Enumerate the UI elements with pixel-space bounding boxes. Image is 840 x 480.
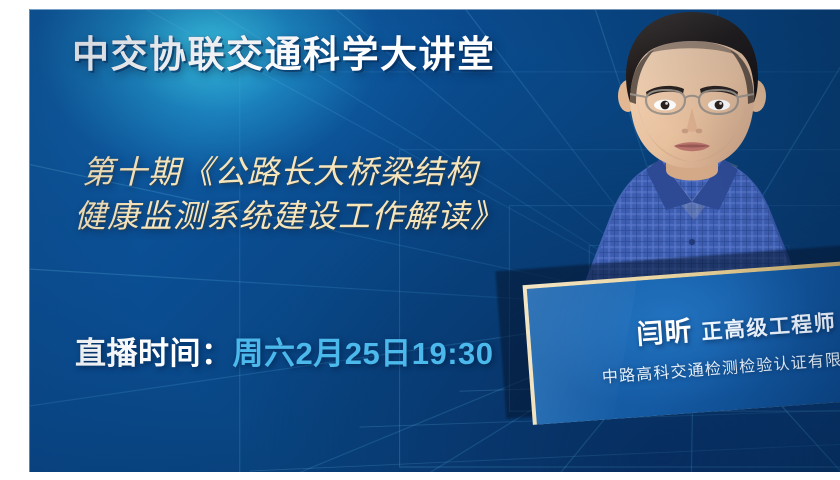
live-stream-poster: 中交协联交通科学大讲堂 第十期《公路长大桥梁结构 健康监测系统建设工作解读》 直… — [0, 0, 840, 480]
subtitle-line-1: 第十期《公路长大桥梁结构 — [82, 154, 478, 190]
speaker-name-row: 闫昕 正高级工程师 — [635, 298, 837, 352]
broadcast-time-value: 周六2月25日19:30 — [233, 336, 494, 371]
speaker-name: 闫昕 — [635, 309, 694, 352]
subtitle-line-2: 健康监测系统建设工作解读》 — [74, 194, 503, 238]
broadcast-time-line: 直播时间：周六2月25日19:30 — [75, 338, 494, 369]
speaker-info-plate: 闫昕 正高级工程师 中路高科交通检测检验认证有限公司 — [485, 236, 840, 445]
broadcast-time-label: 直播时间： — [75, 336, 233, 371]
plate-body: 闫昕 正高级工程师 中路高科交通检测检验认证有限公司 — [527, 262, 840, 425]
speaker-title: 正高级工程师 — [700, 306, 837, 346]
poster-headline: 中交协联交通科学大讲堂 — [72, 36, 496, 73]
poster-subtitle: 第十期《公路长大桥梁结构 健康监测系统建设工作解读》 — [82, 150, 503, 238]
poster-artboard: 中交协联交通科学大讲堂 第十期《公路长大桥梁结构 健康监测系统建设工作解读》 直… — [29, 9, 840, 472]
